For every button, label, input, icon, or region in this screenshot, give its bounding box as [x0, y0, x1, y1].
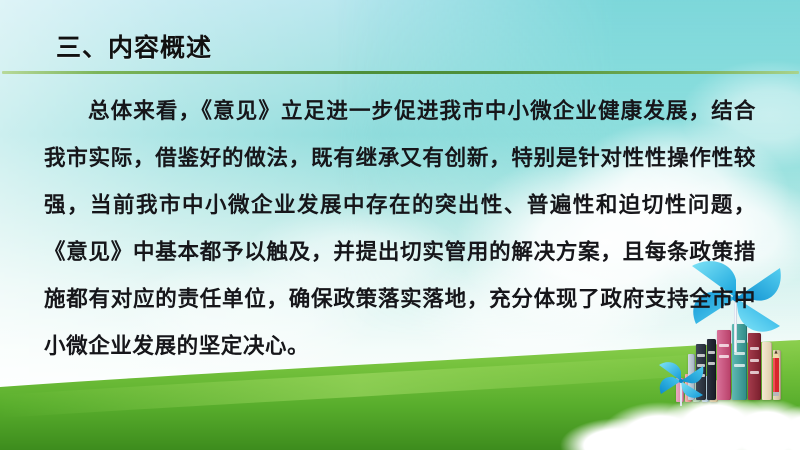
slide: 三、内容概述 总体来看，《意见》立足进一步促进我市中小微企业健康发展，结合我市实… — [0, 0, 800, 450]
title-divider — [2, 71, 799, 74]
page-title: 三、内容概述 — [56, 28, 212, 64]
body-paragraph: 总体来看，《意见》立足进一步促进我市中小微企业健康发展，结合我市实际，借鉴好的做… — [44, 88, 756, 370]
